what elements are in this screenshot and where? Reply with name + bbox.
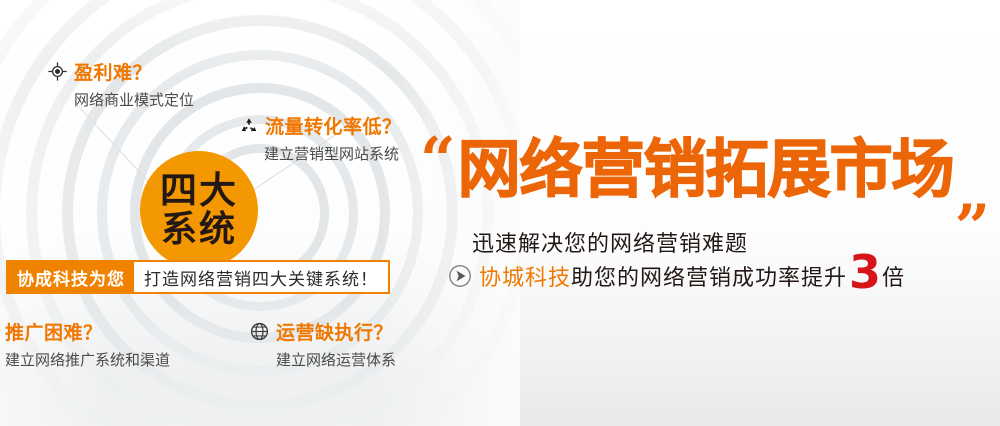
problem-item-subtitle: 建立营销型网站系统 (264, 143, 402, 164)
subheadline-brand: 协城科技 (479, 260, 571, 292)
recycle-icon (240, 117, 258, 135)
tagline-brand-label: 协成科技为您 (8, 262, 134, 292)
problem-item-title: 推广困难？ (5, 318, 103, 345)
problem-item-profit[interactable]: 盈利难？ 网络商业模式定位 (48, 58, 194, 110)
problem-item-header: 运营缺执行？ (250, 318, 396, 345)
problem-item-title: 流量转化率低？ (265, 112, 402, 139)
headline-block: “ 网络营销拓展市场 „ (420, 138, 991, 201)
problem-item-subtitle: 网络商业模式定位 (74, 89, 194, 110)
problem-item-header: 推广困难？ (5, 318, 170, 345)
problem-item-title: 盈利难？ (74, 58, 152, 85)
quote-open-icon: “ (420, 138, 456, 183)
problem-item-header: 流量转化率低？ (240, 112, 402, 139)
tagline-message-label: 打造网络营销四大关键系统！ (134, 262, 388, 292)
center-circle-badge: 四大 系统 (140, 151, 258, 269)
headline-pane: “ 网络营销拓展市场 „ 迅速解决您的网络营销难题 协城科技 助您的网络营销成功… (420, 0, 1000, 426)
problem-item-subtitle: 建立网络运营体系 (276, 349, 396, 370)
subheadline-line2-before: 助您的网络营销成功率提升 (571, 260, 847, 292)
problem-item-conversion[interactable]: 流量转化率低？ 建立营销型网站系统 (240, 112, 402, 164)
problem-item-header: 盈利难？ (48, 58, 194, 85)
crosshair-target-icon (48, 62, 67, 81)
problem-item-subtitle: 建立网络推广系统和渠道 (5, 349, 170, 370)
center-circle-line2: 系统 (161, 212, 237, 249)
problem-item-title: 运营缺执行？ (276, 318, 393, 345)
problem-item-promotion[interactable]: 推广困难？ 建立网络推广系统和渠道 (5, 318, 170, 370)
problem-item-operation[interactable]: 运营缺执行？ 建立网络运营体系 (250, 318, 396, 370)
highlight-number: 3 (849, 254, 881, 291)
subheadline-line2: 协城科技 助您的网络营销成功率提升 3 倍 (448, 258, 905, 295)
play-circle-icon[interactable] (448, 264, 472, 288)
globe-icon (250, 322, 269, 341)
tagline-banner: 协成科技为您 打造网络营销四大关键系统！ (6, 260, 390, 294)
subheadline-line2-after: 倍 (882, 260, 905, 292)
quote-close-icon: „ (956, 189, 992, 195)
headline-text: 网络营销拓展市场 (458, 138, 954, 201)
center-circle-line1: 四大 (160, 172, 238, 210)
banner-stage: 四大 系统 盈利难？ 网络商业模式定位 (0, 0, 1000, 426)
subheadline-line1: 迅速解决您的网络营销难题 (472, 226, 748, 258)
